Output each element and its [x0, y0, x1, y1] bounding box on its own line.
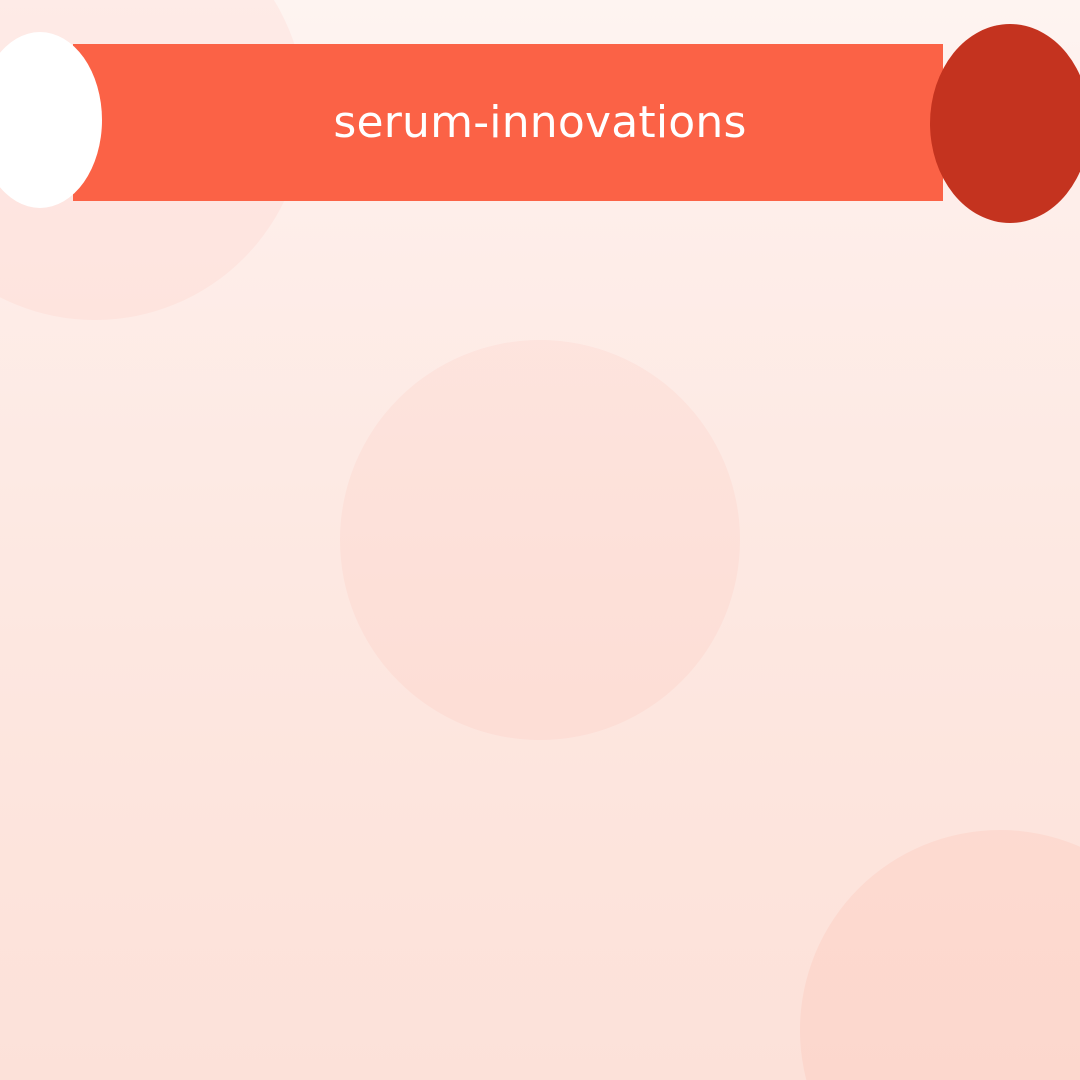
decorative-circle-bottom-right — [800, 830, 1080, 1080]
title-slide: serum-innovations — [0, 0, 1080, 1080]
page-title: serum-innovations — [0, 44, 1080, 201]
banner-right-cap-ellipse — [930, 24, 1080, 223]
decorative-circle-center — [340, 340, 740, 740]
